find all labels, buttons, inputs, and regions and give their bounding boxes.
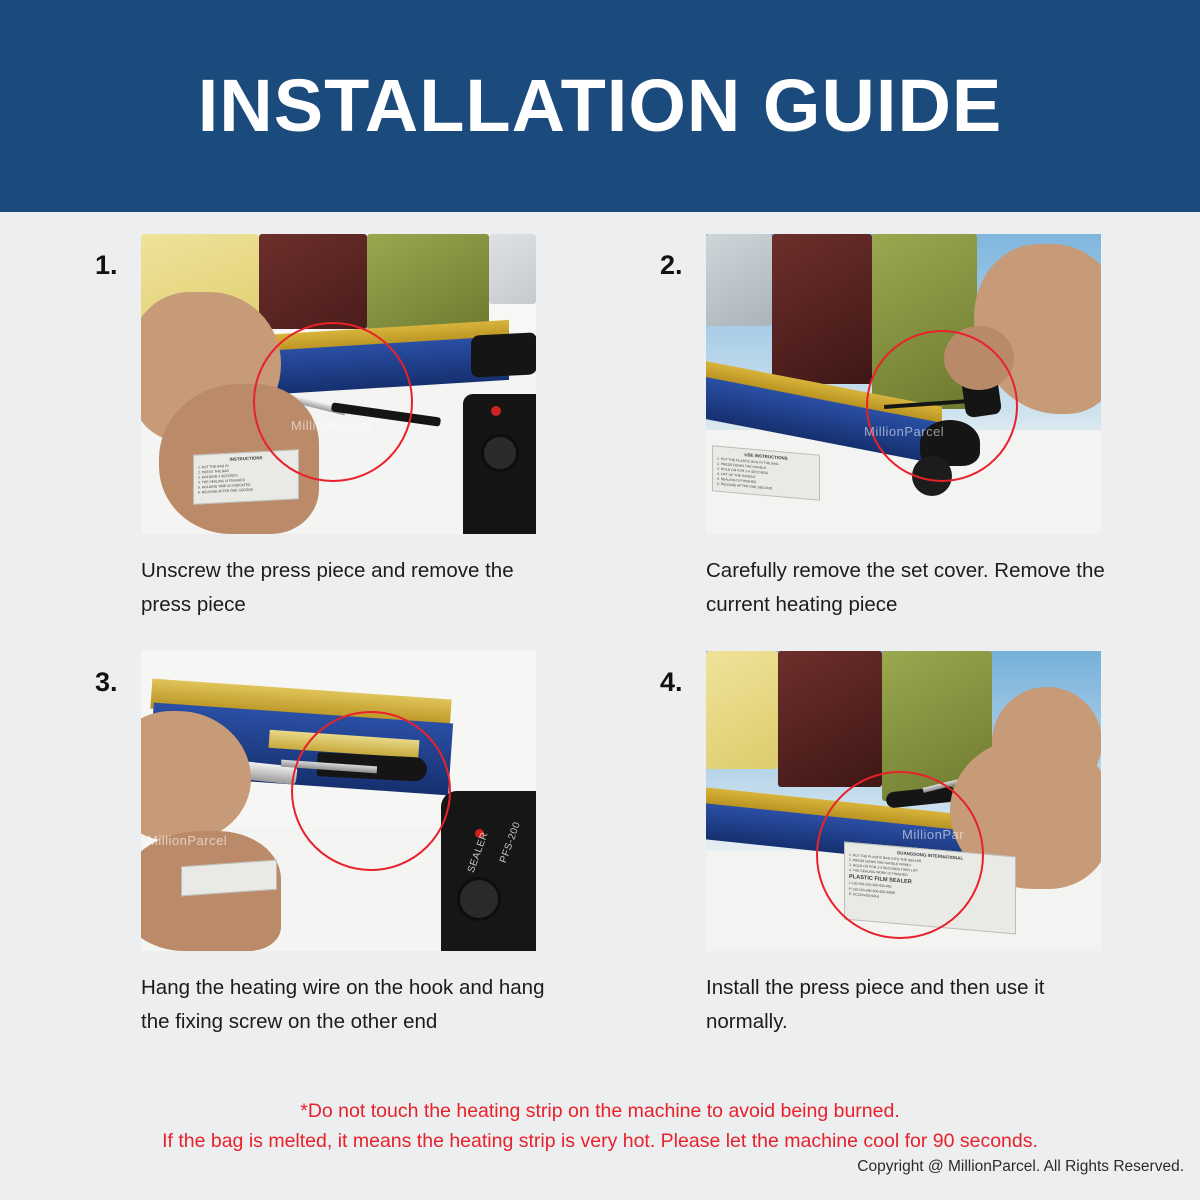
step-2-caption: Carefully remove the set cover. Remove t…	[706, 554, 1126, 623]
step-1: 1.	[95, 212, 640, 623]
step-4-number: 4.	[660, 651, 706, 698]
label-line	[186, 864, 272, 875]
step-1-highlight-circle	[253, 322, 413, 482]
copyright-text: Copyright @ MillionParcel. All Rights Re…	[857, 1158, 1184, 1176]
step-4: 4.	[660, 623, 1200, 1040]
step-4-highlight-circle	[816, 771, 984, 939]
steps-grid: 1.	[0, 212, 1200, 1040]
warning-line-2: If the bag is melted, it means the heati…	[0, 1126, 1200, 1156]
guide-page: INSTALLATION GUIDE 1.	[0, 0, 1200, 1200]
warning-line-1: *Do not touch the heating strip on the m…	[0, 1096, 1200, 1126]
step-2-photo: USE INSTRUCTIONS 1. PUT THE PLASTIC BAG …	[706, 234, 1101, 534]
step-1-caption: Unscrew the press piece and remove the p…	[141, 554, 561, 623]
step-2-number: 2.	[660, 234, 706, 281]
step-4-photo: GUANGDONG INTERNATIONAL 1. PUT THE PLAST…	[706, 651, 1101, 951]
step-1-photo: INSTRUCTIONS 1. PUT THE BAG IN 2. PRESS …	[141, 234, 536, 534]
step-3-photo: SEALER PFS-200 MillionParcel	[141, 651, 536, 951]
step-1-number: 1.	[95, 234, 141, 281]
step-2-label-plate: USE INSTRUCTIONS 1. PUT THE PLASTIC BAG …	[712, 445, 820, 500]
step-3-caption: Hang the heating wire on the hook and ha…	[141, 971, 561, 1040]
step-4-caption: Install the press piece and then use it …	[706, 971, 1126, 1040]
warning-text: *Do not touch the heating strip on the m…	[0, 1096, 1200, 1156]
step-3: 3.	[95, 623, 640, 1040]
step-2-highlight-circle	[866, 330, 1018, 482]
step-3-highlight-circle	[291, 711, 451, 871]
page-header: INSTALLATION GUIDE	[0, 0, 1200, 212]
step-3-number: 3.	[95, 651, 141, 698]
page-title: INSTALLATION GUIDE	[198, 69, 1003, 143]
step-2: 2.	[660, 212, 1200, 623]
